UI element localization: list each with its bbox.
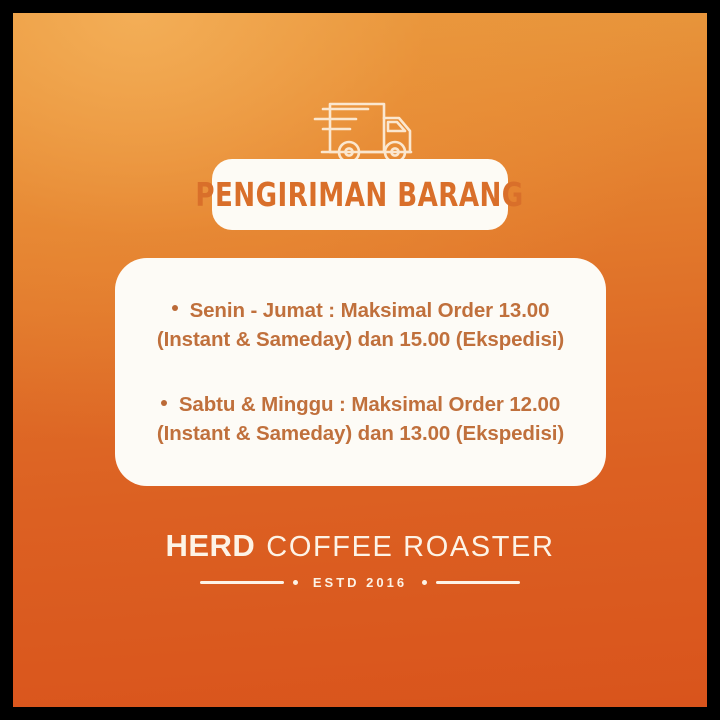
established-label: ESTD 2016: [307, 575, 413, 590]
divider-dot-left: [293, 580, 298, 585]
brand-name-bold: HERD: [165, 528, 255, 564]
page-title: PENGIRIMAN BARANG: [196, 178, 524, 211]
delivery-truck-icon: [298, 95, 422, 163]
weekend-heading: Sabtu & Minggu : Maksimal Order 12.00: [179, 393, 560, 416]
weekday-heading: Senin - Jumat : Maksimal Order 13.00: [190, 299, 550, 322]
poster-canvas: PENGIRIMAN BARANG Senin - Jumat : Maksim…: [13, 13, 707, 707]
brand-logo: HERD COFFEE ROASTER ESTD 2016: [13, 528, 707, 590]
weekend-detail: (Instant & Sameday) dan 13.00 (Ekspedisi…: [157, 422, 564, 445]
bullet-icon: [172, 305, 178, 311]
brand-name-rest: COFFEE ROASTER: [266, 531, 554, 564]
shipping-rule-weekday: Senin - Jumat : Maksimal Order 13.00 (In…: [129, 296, 592, 354]
shipping-info-card: Senin - Jumat : Maksimal Order 13.00 (In…: [115, 258, 606, 486]
bullet-icon: [161, 400, 167, 406]
shipping-rule-weekend: Sabtu & Minggu : Maksimal Order 12.00 (I…: [129, 390, 592, 448]
poster-frame: PENGIRIMAN BARANG Senin - Jumat : Maksim…: [0, 0, 720, 720]
divider-dot-right: [422, 580, 427, 585]
brand-name-row: HERD COFFEE ROASTER: [165, 528, 554, 564]
truck-icon-container: [13, 95, 707, 163]
established-row: ESTD 2016: [200, 575, 520, 590]
divider-line-left: [200, 581, 284, 584]
weekday-detail: (Instant & Sameday) dan 15.00 (Ekspedisi…: [157, 328, 564, 351]
title-badge: PENGIRIMAN BARANG: [212, 159, 508, 230]
divider-line-right: [436, 581, 520, 584]
